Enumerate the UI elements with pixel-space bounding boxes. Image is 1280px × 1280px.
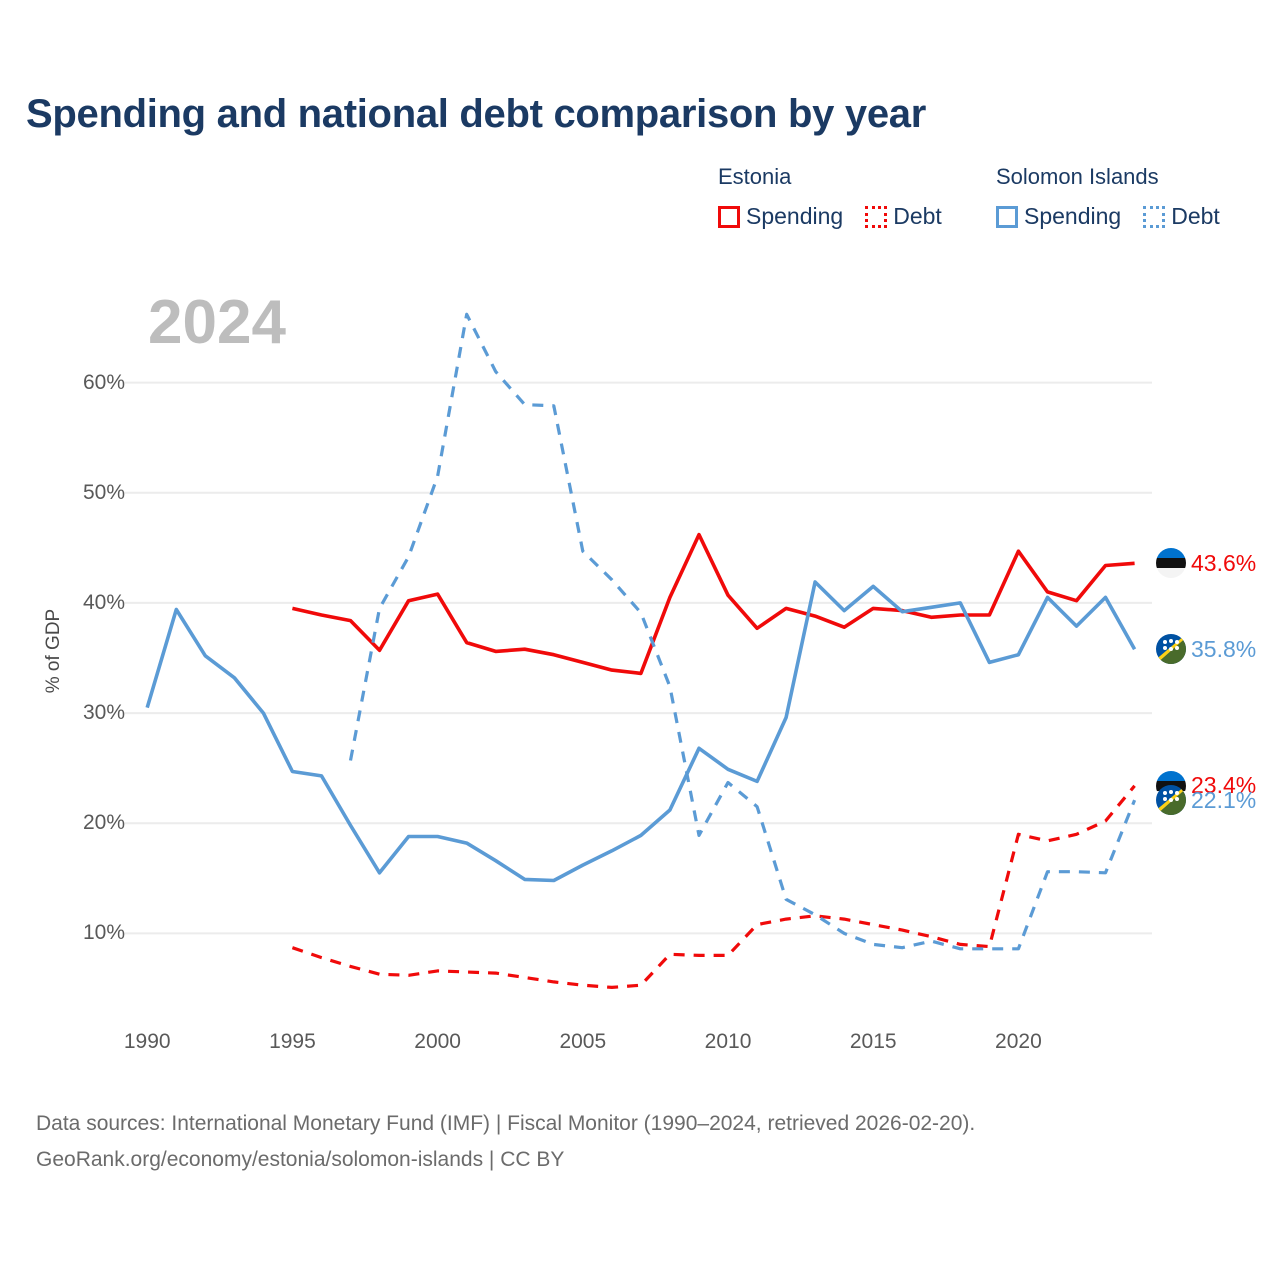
plot-area: 2024 % of GDP 10%20%30%40%50%60% 1990199… xyxy=(0,0,1280,1280)
series-line-solomon-islands-spending xyxy=(147,582,1134,881)
x-axis-tick-label: 2005 xyxy=(538,1030,628,1054)
chart-footer: Data sources: International Monetary Fun… xyxy=(36,1106,975,1178)
endpoint-value: 43.6% xyxy=(1191,550,1256,577)
y-axis-tick-label: 30% xyxy=(55,701,125,725)
estonia-flag-icon xyxy=(1156,548,1186,578)
endpoint-value: 22.1% xyxy=(1191,787,1256,814)
series-line-estonia-spending xyxy=(292,535,1134,674)
solomon-islands-flag-icon xyxy=(1156,634,1186,664)
year-watermark: 2024 xyxy=(148,287,286,358)
solomon-islands-flag-icon xyxy=(1156,785,1186,815)
y-axis-tick-label: 20% xyxy=(55,811,125,835)
y-axis-tick-label: 60% xyxy=(55,371,125,395)
x-axis-tick-label: 2020 xyxy=(973,1030,1063,1054)
x-axis-tick-label: 2010 xyxy=(683,1030,773,1054)
series-line-estonia-debt xyxy=(292,786,1134,988)
solomon-debt-endlabel: 22.1% xyxy=(1156,785,1256,815)
x-axis-tick-label: 1990 xyxy=(102,1030,192,1054)
x-axis-tick-label: 2015 xyxy=(828,1030,918,1054)
y-axis-ticks: 10%20%30%40%50%60% xyxy=(50,0,125,1280)
footer-line-attribution: GeoRank.org/economy/estonia/solomon-isla… xyxy=(36,1142,975,1178)
x-axis-tick-label: 2000 xyxy=(393,1030,483,1054)
y-axis-tick-label: 10% xyxy=(55,921,125,945)
y-axis-tick-label: 40% xyxy=(55,591,125,615)
chart-canvas xyxy=(0,0,1280,1280)
estonia-spending-endlabel: 43.6% xyxy=(1156,548,1256,578)
chart-page: Spending and national debt comparison by… xyxy=(0,0,1280,1280)
y-axis-tick-label: 50% xyxy=(55,481,125,505)
solomon-spending-endlabel: 35.8% xyxy=(1156,634,1256,664)
x-axis-tick-label: 1995 xyxy=(247,1030,337,1054)
endpoint-value: 35.8% xyxy=(1191,636,1256,663)
series-line-solomon-islands-debt xyxy=(351,314,1135,949)
footer-line-sources: Data sources: International Monetary Fun… xyxy=(36,1106,975,1142)
